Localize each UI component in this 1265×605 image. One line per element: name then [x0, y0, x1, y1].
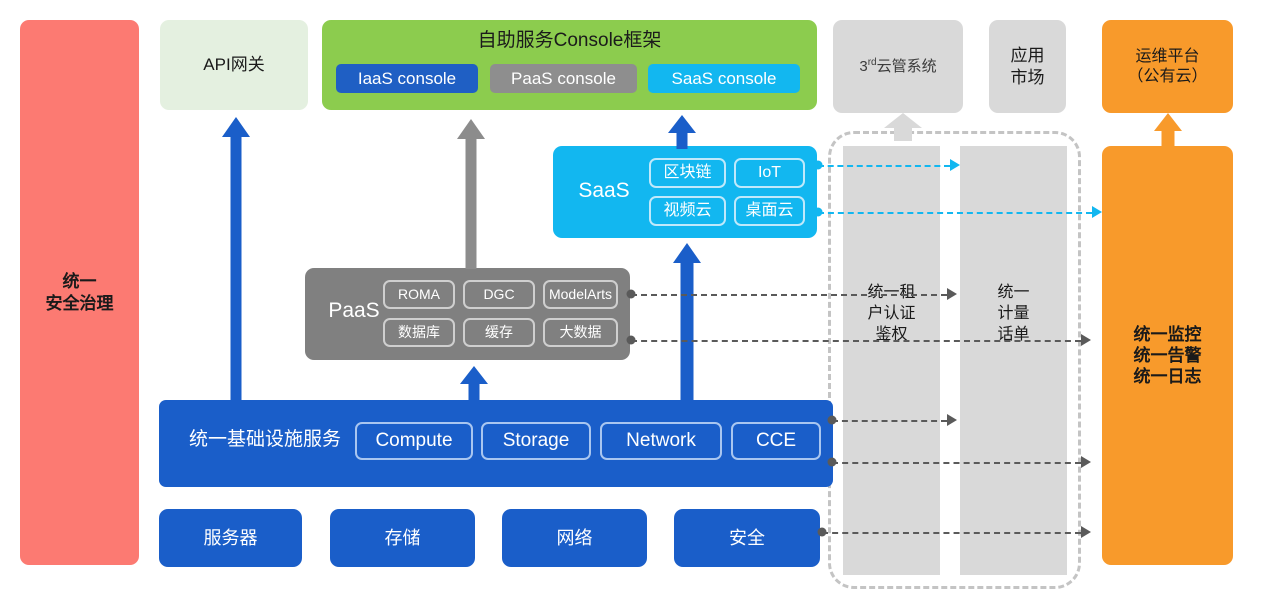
connector-hardware-to-ops	[822, 532, 1081, 534]
iaas-console-pill[interactable]: IaaS console	[336, 64, 478, 93]
saas-chip-video-cloud[interactable]: 视频云	[649, 196, 726, 226]
ops-platform-header-box: 运维平台（公有云）	[1102, 20, 1233, 113]
paas-chip-database[interactable]: 数据库	[383, 318, 455, 347]
third-party-cloud-management-box: 3rd云管系统	[833, 20, 963, 113]
console-frame-title: 自助服务Console框架	[322, 29, 817, 53]
saas-chip-iot[interactable]: IoT	[734, 158, 805, 188]
saas-console-pill[interactable]: SaaS console	[648, 64, 800, 93]
connector-infra-to-ops	[832, 462, 1081, 464]
connector-paas-to-ops	[631, 340, 1081, 342]
connector-arrowhead-paas-1	[947, 288, 957, 300]
paas-console-pill[interactable]: PaaS console	[490, 64, 637, 93]
arrow-saas-to-console	[668, 115, 696, 149]
arrow-shared-to-third-party	[884, 113, 922, 141]
infra-chip-storage[interactable]: Storage	[481, 422, 591, 460]
arrow-infra-to-paas	[460, 366, 488, 402]
architecture-diagram: 统一安全治理 API网关 自助服务Console框架 IaaS console …	[0, 0, 1265, 605]
arrow-infra-to-saas	[672, 243, 702, 401]
ops-platform-header-label: 运维平台（公有云）	[1127, 47, 1207, 87]
app-market-box: 应用市场	[989, 20, 1066, 113]
saas-chip-blockchain[interactable]: 区块链	[649, 158, 726, 188]
infra-chip-compute[interactable]: Compute	[355, 422, 473, 460]
paas-chip-bigdata[interactable]: 大数据	[543, 318, 618, 347]
paas-layer-label: PaaS	[315, 298, 393, 324]
third-party-cloud-management-label: 3rd云管系统	[859, 57, 936, 77]
connector-arrowhead-infra-2	[1081, 456, 1091, 468]
ops-platform-body-box: 统一监控统一告警统一日志	[1102, 146, 1233, 565]
saas-chip-desktop-cloud[interactable]: 桌面云	[734, 196, 805, 226]
shared-column-auth-label: 统一租户认证鉴权	[843, 283, 940, 345]
connector-arrowhead-infra-1	[947, 414, 957, 426]
unified-infrastructure-bar: 统一基础设施服务 Compute Storage Network CCE	[159, 400, 833, 487]
connector-arrowhead-paas-2	[1081, 334, 1091, 346]
shared-column-auth	[843, 146, 940, 575]
connector-saas-to-ops	[818, 212, 1092, 214]
paas-layer-box: PaaS ROMA DGC ModelArts 数据库 缓存 大数据	[305, 268, 630, 360]
shared-column-metering	[960, 146, 1067, 575]
paas-chip-cache[interactable]: 缓存	[463, 318, 535, 347]
unified-security-governance-panel: 统一安全治理	[20, 20, 139, 565]
paas-chip-roma[interactable]: ROMA	[383, 280, 455, 309]
self-service-console-frame: 自助服务Console框架 IaaS console PaaS console …	[322, 20, 817, 110]
shared-column-metering-label: 统一计量话单	[960, 283, 1067, 345]
arrow-paas-to-console	[457, 119, 485, 269]
api-gateway-label: API网关	[203, 54, 264, 75]
api-gateway-box: API网关	[160, 20, 308, 110]
arrow-to-ops-platform	[1154, 113, 1182, 147]
hardware-box-network[interactable]: 网络	[502, 509, 647, 567]
paas-chip-modelarts[interactable]: ModelArts	[543, 280, 618, 309]
hardware-box-server[interactable]: 服务器	[159, 509, 302, 567]
ops-platform-body-label: 统一监控统一告警统一日志	[1134, 324, 1202, 388]
saas-layer-label: SaaS	[567, 178, 641, 204]
infra-chip-network[interactable]: Network	[600, 422, 722, 460]
saas-layer-box: SaaS 区块链 IoT 视频云 桌面云	[553, 146, 817, 238]
arrow-infra-to-api-gateway	[222, 117, 250, 400]
connector-arrowhead-saas-2	[1092, 206, 1102, 218]
paas-chip-dgc[interactable]: DGC	[463, 280, 535, 309]
connector-paas-to-auth	[631, 294, 947, 296]
connector-infra-to-auth	[832, 420, 947, 422]
app-market-label: 应用市场	[1011, 45, 1045, 88]
unified-security-governance-label: 统一安全治理	[46, 271, 114, 314]
hardware-box-security[interactable]: 安全	[674, 509, 820, 567]
hardware-box-storage[interactable]: 存储	[330, 509, 475, 567]
connector-saas-to-metering	[818, 165, 950, 167]
unified-infrastructure-label: 统一基础设施服务	[173, 428, 357, 452]
infra-chip-cce[interactable]: CCE	[731, 422, 821, 460]
connector-arrowhead-hardware	[1081, 526, 1091, 538]
connector-arrowhead-saas-1	[950, 159, 960, 171]
third-party-superscript: rd	[868, 57, 877, 68]
